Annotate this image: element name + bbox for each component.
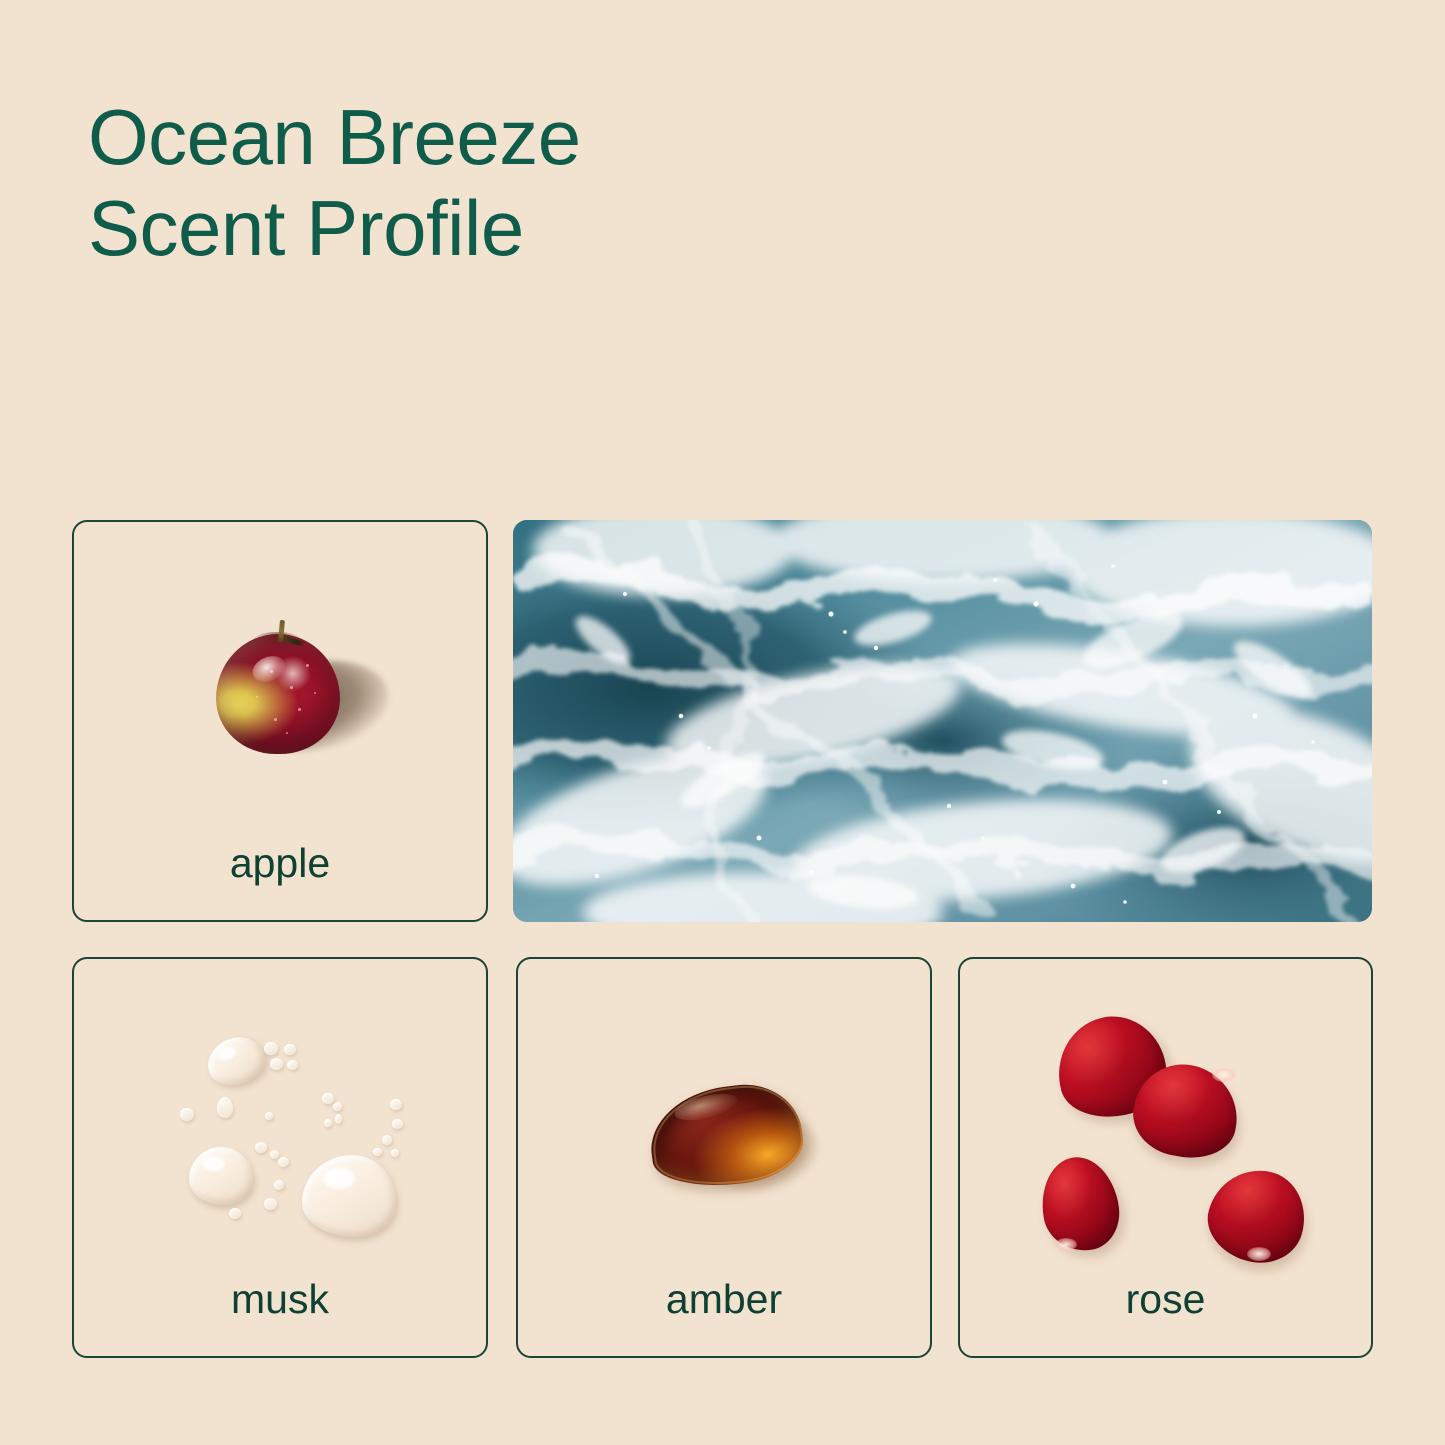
- apple-image: [74, 522, 486, 832]
- musk-droplet-large: [302, 1155, 396, 1237]
- card-label-apple: apple: [74, 843, 486, 884]
- musk-droplet-small: [333, 1102, 342, 1111]
- musk-image: [74, 959, 486, 1268]
- musk-droplet-small: [278, 1157, 289, 1167]
- musk-droplet-small: [217, 1097, 233, 1118]
- musk-droplet-small: [335, 1114, 342, 1124]
- ocean-foam-icon: [513, 520, 1372, 922]
- musk-droplet-small: [180, 1108, 194, 1121]
- rose-petal: [1035, 1152, 1125, 1257]
- musk-droplet-small: [373, 1148, 382, 1156]
- musk-droplet-small: [391, 1149, 399, 1157]
- card-label-musk: musk: [74, 1279, 486, 1320]
- musk-droplet-small: [270, 1058, 283, 1070]
- musk-droplet-small: [264, 1042, 278, 1055]
- amber-image: [518, 959, 930, 1268]
- apple-body-icon: [216, 634, 340, 754]
- ocean-hero-image[interactable]: [513, 520, 1372, 922]
- rose-image: [960, 959, 1371, 1268]
- musk-droplet-small: [390, 1099, 402, 1110]
- scent-profile-board: Ocean Breeze Scent Profile: [0, 0, 1445, 1445]
- musk-droplet-small: [229, 1208, 241, 1219]
- musk-droplet-small: [255, 1142, 267, 1153]
- scent-card-musk[interactable]: musk: [72, 957, 488, 1358]
- musk-droplet-small: [322, 1093, 334, 1104]
- musk-droplet-small: [324, 1119, 332, 1127]
- page-title: Ocean Breeze Scent Profile: [88, 92, 581, 275]
- scent-card-apple[interactable]: apple: [72, 520, 488, 922]
- musk-droplet-small: [392, 1119, 403, 1129]
- musk-droplet-small: [270, 1150, 279, 1159]
- musk-droplet-medium: [189, 1147, 253, 1205]
- musk-droplet-upper: [201, 1030, 270, 1092]
- musk-droplet-small: [287, 1060, 298, 1070]
- musk-droplet-small: [382, 1135, 392, 1145]
- musk-droplet-small: [265, 1112, 273, 1120]
- musk-droplet-small: [274, 1180, 284, 1190]
- scent-card-amber[interactable]: amber: [516, 957, 932, 1358]
- card-label-amber: amber: [518, 1279, 930, 1320]
- card-label-rose: rose: [960, 1279, 1371, 1320]
- musk-droplet-small: [284, 1044, 296, 1055]
- musk-droplet-small: [264, 1198, 277, 1210]
- scent-card-rose[interactable]: rose: [958, 957, 1373, 1358]
